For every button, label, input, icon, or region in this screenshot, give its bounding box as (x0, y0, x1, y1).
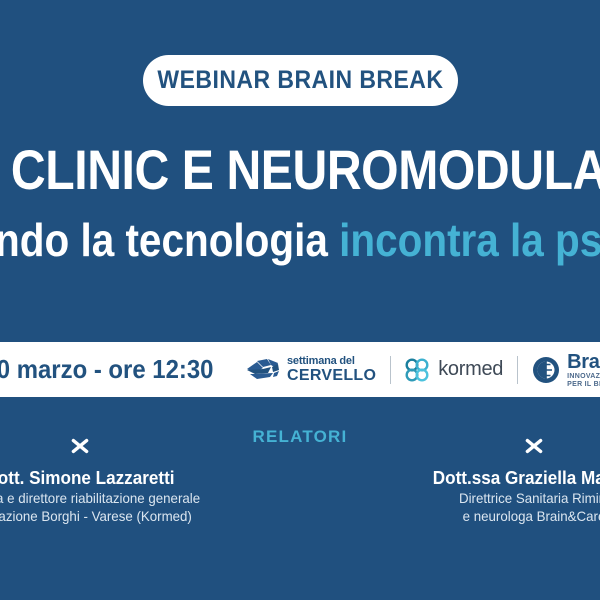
speaker-right-icon-wrap (384, 432, 600, 460)
speaker-card-right: Dott.ssa Graziella Madeo Direttrice Sani… (384, 430, 600, 525)
speaker-left-role-line1: Fisiatra e direttore riabilitazione gene… (0, 489, 223, 507)
webinar-badge-label: WEBINAR BRAIN BREAK (157, 66, 443, 95)
logo-divider-1 (390, 356, 391, 384)
webinar-badge-pill: WEBINAR BRAIN BREAK (143, 55, 458, 106)
logo-strip: settimana del CERVELLO kormed (246, 342, 600, 397)
subtitle: Quando la tecnologia incontra la psiche (0, 212, 600, 268)
speaker-left-role-line2: Fondazione Borghi - Varese (Kormed) (0, 507, 223, 525)
settimana-cervello-text: settimana del CERVELLO (287, 356, 376, 384)
webinar-poster: WEBINAR BRAIN BREAK BRAIN CLINIC E NEURO… (0, 0, 600, 600)
page-title: BRAIN CLINIC E NEUROMODULAZIONE (0, 138, 600, 202)
speaker-card-left: Dott. Simone Lazzaretti Fisiatra e diret… (0, 430, 230, 525)
subtitle-accent-part: incontra la psiche (339, 214, 600, 266)
brain-care-circle-icon (532, 356, 560, 384)
speaker-left-name: Dott. Simone Lazzaretti (0, 468, 223, 489)
speaker-right-name: Dott.ssa Graziella Madeo (392, 468, 600, 489)
logo-settimana-del-cervello: settimana del CERVELLO (246, 356, 376, 384)
kormed-cross-icon (405, 357, 431, 383)
logo-divider-2 (517, 356, 518, 384)
speakers-container: Dott. Simone Lazzaretti Fisiatra e diret… (0, 430, 600, 540)
logo-brain-and-care: Brain&Care INNOVAZIONE PER IL BENESSERE (532, 352, 600, 388)
subtitle-container: Quando la tecnologia incontra la psiche (0, 208, 600, 272)
x-sparkle-icon (71, 437, 89, 455)
brain-care-tagline-2: PER IL BENESSERE (567, 381, 600, 388)
speaker-right-role-line2: e neurologa Brain&Care (392, 507, 600, 525)
kormed-wordmark: kormed (438, 358, 503, 381)
headline-container: BRAIN CLINIC E NEUROMODULAZIONE (0, 134, 600, 206)
settimana-cervello-line2: CERVELLO (287, 368, 376, 384)
event-datetime: Giovedì 20 marzo - ore 12:30 (0, 354, 214, 385)
speaker-right-role-line1: Direttrice Sanitaria Rimini (392, 489, 600, 507)
brain-care-tagline-1: INNOVAZIONE (567, 373, 600, 380)
x-sparkle-icon (525, 437, 543, 455)
logo-kormed: kormed (405, 357, 503, 383)
settimana-cervello-line1: settimana del (287, 356, 376, 367)
info-bar: Giovedì 20 marzo - ore 12:30 settimana d… (0, 342, 600, 397)
subtitle-white-part: Quando la tecnologia (0, 214, 339, 266)
brain-care-wordmark: Brain&Care (567, 352, 600, 372)
brain-polygon-icon (246, 358, 280, 382)
datetime-container: Giovedì 20 marzo - ore 12:30 (0, 342, 236, 397)
speaker-left-icon-wrap (0, 432, 230, 460)
brain-care-text: Brain&Care INNOVAZIONE PER IL BENESSERE (567, 352, 600, 388)
